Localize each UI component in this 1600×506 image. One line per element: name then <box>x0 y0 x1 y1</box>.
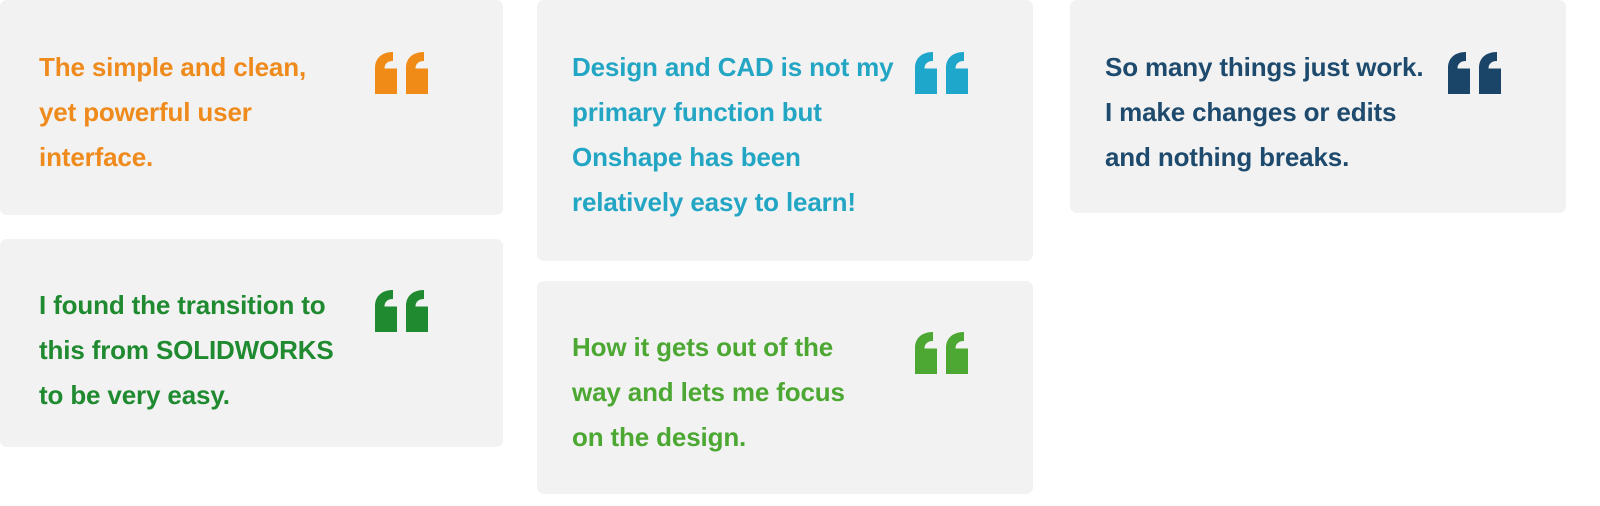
testimonial-card-transition-from-solidworks[interactable]: I found the transition to this from SOLI… <box>0 239 503 447</box>
quote-icon-navy <box>1448 52 1504 94</box>
testimonial-quote-text: How it gets out of the way and lets me f… <box>572 325 862 460</box>
testimonial-card-simple-and-clean[interactable]: The simple and clean, yet powerful user … <box>0 0 503 215</box>
testimonial-card-so-many-things-just-work[interactable]: So many things just work. I make changes… <box>1070 0 1566 213</box>
testimonial-quote-text: So many things just work. I make changes… <box>1105 45 1435 180</box>
quote-icon-orange <box>375 52 431 94</box>
testimonial-quote-text: I found the transition to this from SOLI… <box>39 283 339 418</box>
quote-icon-light-green <box>915 332 971 374</box>
testimonial-card-gets-out-of-the-way[interactable]: How it gets out of the way and lets me f… <box>537 281 1033 494</box>
quote-icon-teal <box>915 52 971 94</box>
testimonial-quote-text: Design and CAD is not my primary functio… <box>572 45 915 225</box>
testimonial-card-design-and-cad[interactable]: Design and CAD is not my primary functio… <box>537 0 1033 261</box>
testimonial-grid: The simple and clean, yet powerful user … <box>0 0 1600 506</box>
quote-icon-green <box>375 290 431 332</box>
testimonial-quote-text: The simple and clean, yet powerful user … <box>39 45 329 180</box>
